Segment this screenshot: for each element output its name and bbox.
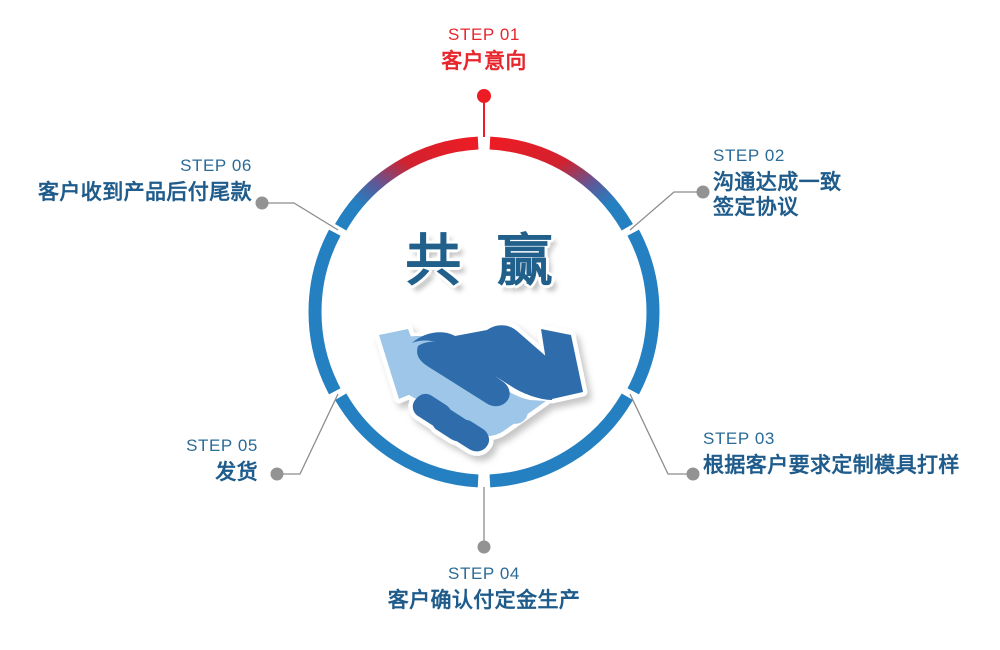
step-label-06[interactable]: STEP 06 客户收到产品后付尾款 [0, 156, 252, 205]
step-dot-03[interactable] [687, 468, 700, 481]
step-node-dots [256, 89, 710, 554]
step-number-03: STEP 03 [703, 429, 993, 450]
step-label-03[interactable]: STEP 03 根据客户要求定制模具打样 [703, 429, 993, 478]
ring-segment-2 [633, 233, 653, 392]
step-number-04: STEP 04 [384, 564, 584, 585]
step-number-05: STEP 05 [58, 436, 258, 457]
step-text-01-line-1: 客户意向 [384, 49, 584, 75]
step-dot-04[interactable] [478, 541, 491, 554]
ring-segment-6 [341, 143, 478, 227]
connector-lines [268, 99, 697, 543]
step-text-02-line-2: 签定协议 [713, 195, 983, 221]
handshake-icon [379, 325, 583, 451]
connector-step-05 [283, 394, 338, 474]
step-label-01[interactable]: STEP 01 客户意向 [384, 25, 584, 74]
step-text-06: 客户收到产品后付尾款 [0, 180, 252, 206]
step-text-05-line-1: 发货 [58, 460, 258, 486]
step-dot-06[interactable] [256, 197, 269, 210]
step-number-06: STEP 06 [0, 156, 252, 177]
step-text-02-line-1: 沟通达成一致 [713, 170, 983, 196]
step-dot-01[interactable] [477, 89, 491, 103]
step-text-02: 沟通达成一致 签定协议 [713, 170, 983, 221]
step-text-05: 发货 [58, 460, 258, 486]
step-label-05[interactable]: STEP 05 发货 [58, 436, 258, 485]
step-text-03-line-1: 根据客户要求定制模具打样 [703, 453, 993, 479]
step-text-04-line-1: 客户确认付定金生产 [384, 588, 584, 614]
step-text-06-line-1: 客户收到产品后付尾款 [0, 180, 252, 206]
step-number-02: STEP 02 [713, 146, 983, 167]
connector-step-06 [268, 203, 338, 230]
ring-segment-1 [490, 143, 627, 227]
ring-segment-5 [315, 233, 335, 392]
step-label-02[interactable]: STEP 02 沟通达成一致 签定协议 [713, 146, 983, 221]
connector-step-02 [630, 192, 697, 230]
connector-step-03 [630, 394, 687, 474]
step-text-03: 根据客户要求定制模具打样 [703, 453, 993, 479]
step-number-01: STEP 01 [384, 25, 584, 46]
step-dot-05[interactable] [271, 468, 284, 481]
infographic-canvas: 共 赢 STEP 01 客户意向 STEP 02 沟通达成一致 签定协议 STE… [0, 0, 1000, 650]
step-dot-02[interactable] [697, 186, 710, 199]
step-text-01: 客户意向 [384, 49, 584, 75]
circular-process-diagram [0, 0, 1000, 650]
step-text-04: 客户确认付定金生产 [384, 588, 584, 614]
step-label-04[interactable]: STEP 04 客户确认付定金生产 [384, 564, 584, 613]
